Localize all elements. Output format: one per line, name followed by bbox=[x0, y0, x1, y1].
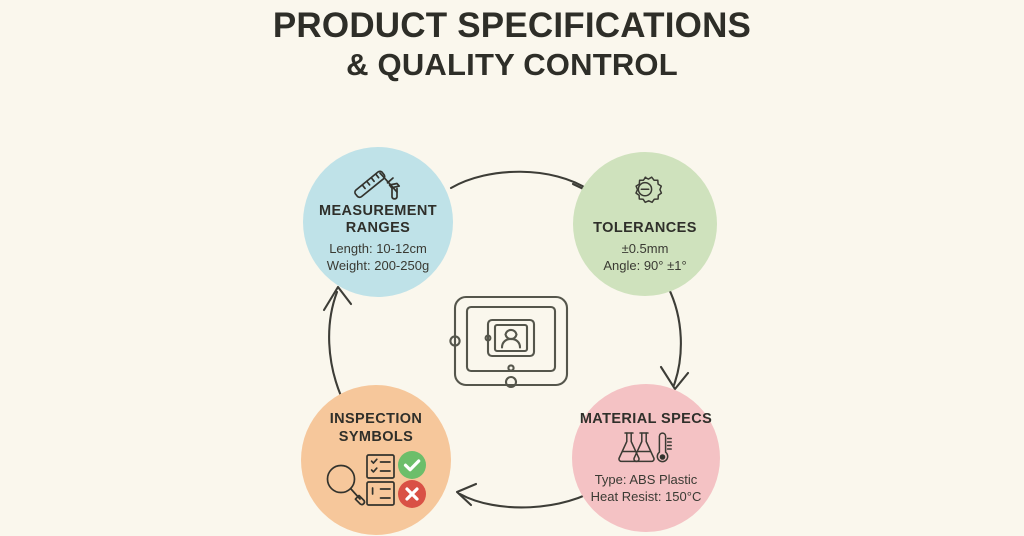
node-detail: ±0.5mm Angle: 90° ±1° bbox=[603, 240, 686, 274]
page-title: PRODUCT SPECIFICATIONS & QUALITY CONTROL bbox=[0, 6, 1024, 83]
node-detail-line1: Length: 10-12cm bbox=[329, 241, 427, 256]
node-heading: INSPECTION SYMBOLS bbox=[330, 411, 423, 445]
flasks-thermometer-icon bbox=[615, 430, 677, 466]
node-heading: MATERIAL SPECS bbox=[580, 411, 712, 428]
node-tolerances[interactable]: TOLERANCES ±0.5mm Angle: 90° ±1° bbox=[573, 152, 717, 296]
page-title-line1: PRODUCT SPECIFICATIONS bbox=[0, 6, 1024, 47]
node-detail-line1: ±0.5mm bbox=[622, 241, 669, 256]
node-detail: Length: 10-12cm Weight: 200-250g bbox=[327, 240, 429, 274]
node-inspection-symbols[interactable]: INSPECTION SYMBOLS bbox=[301, 385, 451, 535]
node-heading-line2: RANGES bbox=[346, 220, 410, 236]
node-detail-line2: Angle: 90° ±1° bbox=[603, 258, 686, 273]
node-heading-line1: MEASUREMENT bbox=[319, 203, 437, 219]
node-material-specs[interactable]: MATERIAL SPECS bbox=[572, 384, 720, 532]
arrow-inspection-to-measurement bbox=[305, 282, 363, 400]
page-title-line2: & QUALITY CONTROL bbox=[0, 47, 1024, 83]
node-heading: MEASUREMENT RANGES bbox=[319, 203, 437, 237]
node-measurement-ranges[interactable]: MEASUREMENT RANGES Length: 10-12cm Weigh… bbox=[303, 147, 453, 297]
node-heading-line2: SYMBOLS bbox=[339, 429, 414, 445]
node-heading-line1: MATERIAL SPECS bbox=[580, 411, 712, 427]
node-heading-line1: TOLERANCES bbox=[593, 220, 697, 236]
node-detail-line2: Weight: 200-250g bbox=[327, 258, 429, 273]
ruler-caliper-icon bbox=[350, 168, 406, 202]
infographic-canvas: PRODUCT SPECIFICATIONS & QUALITY CONTROL bbox=[0, 0, 1024, 536]
node-detail: Type: ABS Plastic Heat Resist: 150°C bbox=[591, 471, 702, 505]
node-heading: TOLERANCES bbox=[593, 220, 697, 237]
magnifier-checklist-check-cross-icon bbox=[322, 449, 430, 509]
node-detail-line2: Heat Resist: 150°C bbox=[591, 489, 702, 504]
arrow-tolerances-to-material bbox=[650, 283, 710, 398]
node-heading-line1: INSPECTION bbox=[330, 411, 423, 427]
node-detail-line1: Type: ABS Plastic bbox=[595, 472, 698, 487]
tablet-device-icon bbox=[447, 292, 577, 392]
gear-minus-icon bbox=[624, 174, 666, 216]
